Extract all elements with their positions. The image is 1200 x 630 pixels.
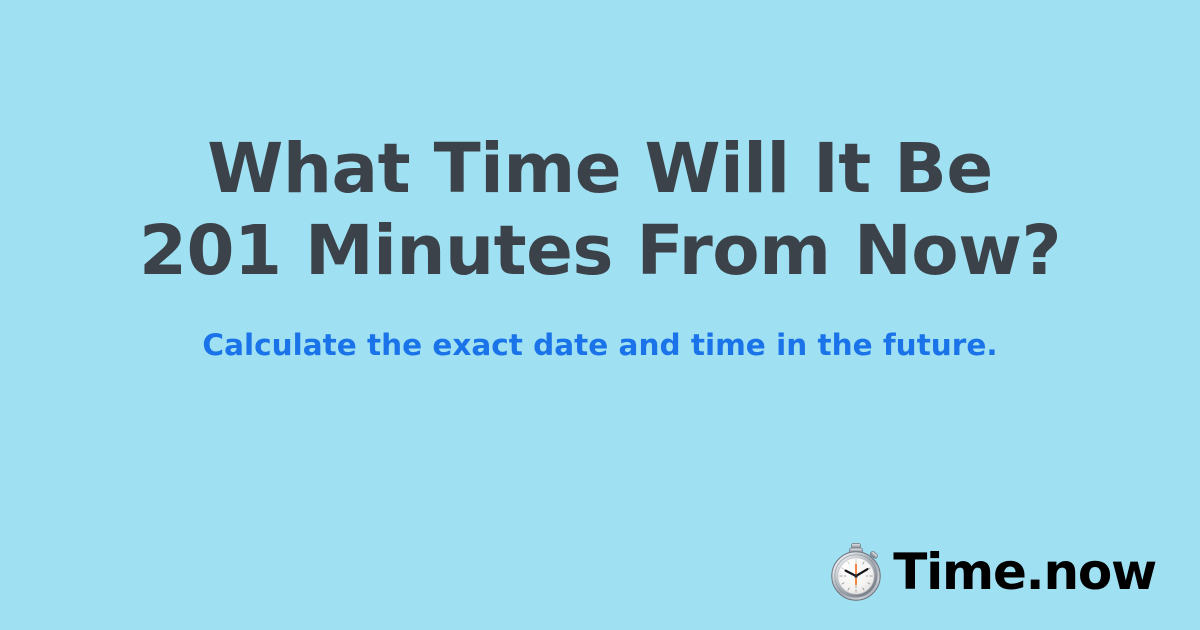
poster-canvas: What Time Will It Be 201 Minutes From No… (0, 0, 1200, 630)
stopwatch-icon (829, 542, 883, 602)
brand-logo[interactable]: Time.now (829, 542, 1156, 602)
headline-line-1: What Time Will It Be (0, 128, 1200, 210)
headline-block: What Time Will It Be 201 Minutes From No… (0, 128, 1200, 292)
headline-line-2: 201 Minutes From Now? (0, 210, 1200, 292)
page-subtitle: Calculate the exact date and time in the… (0, 327, 1200, 363)
brand-name: Time.now (893, 544, 1156, 600)
page-title: What Time Will It Be 201 Minutes From No… (0, 128, 1200, 292)
